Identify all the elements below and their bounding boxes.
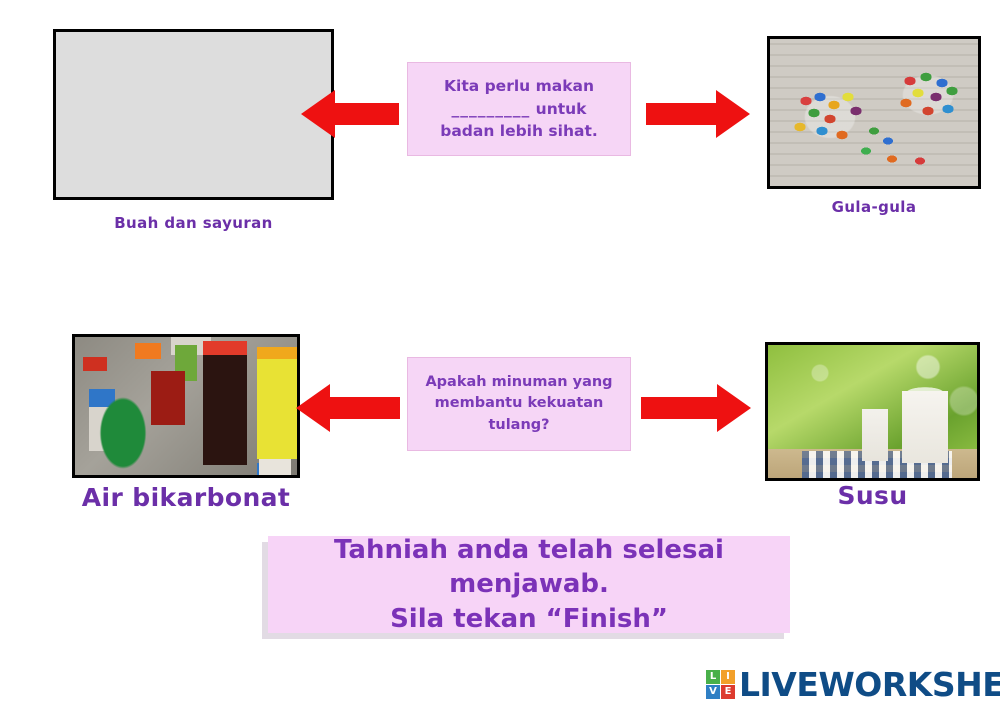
question-box-2: Apakah minuman yang membantu kekuatan tu… xyxy=(407,357,631,451)
question-2-line-2: membantu kekuatan xyxy=(435,393,604,414)
question-2-line-3: tulang? xyxy=(488,415,549,436)
completion-banner-line-2: Sila tekan “Finish” xyxy=(390,602,668,636)
arrow-right-bottom-icon xyxy=(641,382,751,434)
question-1-blank: _________ xyxy=(452,100,531,118)
completion-banner-line-1: Tahniah anda telah selesai menjawab. xyxy=(268,533,790,602)
arrow-left-top-icon xyxy=(301,88,399,140)
question-1-line-1: Kita perlu makan xyxy=(444,75,594,97)
logo-mark-l: L xyxy=(706,670,720,684)
question-box-1: Kita perlu makan _________ untuk badan l… xyxy=(407,62,631,156)
liveworksheets-logo-marks-icon: L I V E xyxy=(706,670,735,699)
image-fruits-and-vegetables xyxy=(53,29,334,200)
image-soda-bottles xyxy=(72,334,300,478)
worksheet-canvas: Buah dan sayuran Kita perlu makan ______… xyxy=(0,0,1000,707)
question-1-line-3: badan lebih sihat. xyxy=(440,120,598,142)
logo-mark-v: V xyxy=(706,685,720,699)
image-candy xyxy=(767,36,981,189)
image-milk xyxy=(765,342,980,481)
question-2-line-1: Apakah minuman yang xyxy=(425,372,612,393)
caption-candy: Gula-gula xyxy=(767,198,981,216)
caption-fruits-and-vegetables: Buah dan sayuran xyxy=(53,214,334,232)
question-1-line-2-tail: untuk xyxy=(530,100,586,118)
caption-carbonated-water: Air bikarbonat xyxy=(72,483,300,512)
caption-milk: Susu xyxy=(765,481,980,510)
logo-mark-i: I xyxy=(721,670,735,684)
arrow-right-top-icon xyxy=(646,88,750,140)
question-1-line-2: _________ untuk xyxy=(452,98,587,120)
completion-banner: Tahniah anda telah selesai menjawab. Sil… xyxy=(268,536,790,633)
liveworksheets-logo-text: LIVEWORKSHEETS xyxy=(739,668,1000,701)
arrow-left-bottom-icon xyxy=(296,382,400,434)
liveworksheets-logo: L I V E LIVEWORKSHEETS xyxy=(706,668,1000,701)
logo-mark-e: E xyxy=(721,685,735,699)
